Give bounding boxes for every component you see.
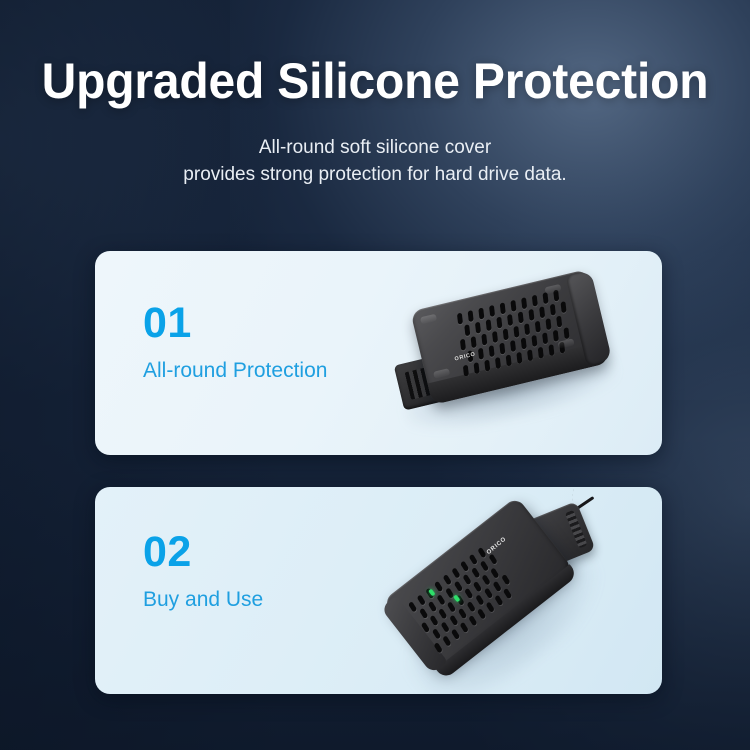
vent-slot	[442, 635, 451, 647]
feature-card-01[interactable]: 01 All-round Protection ORICO	[95, 251, 662, 455]
vent-slot	[449, 615, 458, 627]
vent-slot	[531, 335, 537, 347]
vent-slot	[556, 315, 562, 327]
vent-slot	[443, 574, 452, 586]
vent-slot	[510, 300, 516, 312]
vent-slot	[503, 328, 509, 340]
vent-slot	[527, 349, 533, 361]
vent-slot	[545, 318, 551, 330]
vent-slot	[484, 588, 493, 600]
subtitle-line-2: provides strong protection for hard driv…	[0, 161, 750, 188]
feature-number: 02	[143, 529, 263, 575]
vent-slot	[494, 595, 503, 607]
vent-slot	[500, 302, 506, 314]
vent-slot	[516, 352, 522, 364]
vent-slot	[549, 304, 555, 316]
vent-slot	[427, 601, 436, 613]
vent-slot	[538, 347, 544, 359]
vent-slot	[463, 365, 469, 377]
vent-slot	[432, 628, 441, 640]
vent-slot	[478, 307, 484, 319]
feature-title: Buy and Use	[143, 587, 263, 613]
feature-card-02-text: 02 Buy and Use	[143, 529, 263, 613]
vent-slot	[488, 345, 494, 357]
vent-slot	[471, 567, 480, 579]
vent-slot	[436, 594, 445, 606]
vent-slot	[479, 561, 488, 573]
vent-slot	[524, 323, 530, 335]
feature-number: 01	[143, 300, 327, 346]
vent-slot	[517, 311, 523, 323]
vent-slot	[475, 595, 484, 607]
vent-slot	[501, 574, 510, 586]
vent-slot	[468, 310, 474, 322]
vent-slot	[451, 567, 460, 579]
vent-slot	[464, 324, 470, 336]
vent-slot	[539, 306, 545, 318]
vent-slot	[457, 313, 463, 325]
vent-slot	[466, 601, 475, 613]
vent-slot	[474, 362, 480, 374]
vent-slot	[477, 547, 486, 559]
feature-card-02[interactable]: 02 Buy and Use ORICO ORICO	[95, 487, 662, 694]
vent-slot	[429, 615, 438, 627]
vent-slot	[489, 305, 495, 317]
product-feature-banner: Upgraded Silicone Protection All-round s…	[0, 0, 750, 750]
vent-slot	[481, 574, 490, 586]
vent-slot	[471, 336, 477, 348]
vent-slot	[460, 339, 466, 351]
vent-slot	[477, 348, 483, 360]
vent-slot	[492, 581, 501, 593]
vent-slot	[458, 608, 467, 620]
vent-slot	[496, 317, 502, 329]
vent-slot	[503, 588, 512, 600]
vent-slot	[507, 314, 513, 326]
vent-slot	[438, 608, 447, 620]
vent-slot	[473, 581, 482, 593]
vent-slot	[499, 343, 505, 355]
vent-slot	[521, 297, 527, 309]
vent-slot	[417, 594, 426, 606]
vent-slot	[535, 321, 541, 333]
vent-slot	[486, 601, 495, 613]
vent-slot	[440, 622, 449, 634]
vent-slot	[560, 301, 566, 313]
vent-slot	[453, 581, 462, 593]
vent-slot	[434, 581, 443, 593]
vent-slot	[509, 340, 515, 352]
vent-slot	[513, 326, 519, 338]
subtitle-line-1: All-round soft silicone cover	[0, 134, 750, 161]
vent-slot	[528, 309, 534, 321]
vent-slot	[469, 554, 478, 566]
vent-slot	[419, 608, 428, 620]
page-title: Upgraded Silicone Protection	[15, 52, 735, 110]
feature-card-01-text: 01 All-round Protection	[143, 300, 327, 384]
vent-slot	[490, 567, 499, 579]
product-image-hdd-enclosure-with-adapter: ORICO ORICO	[385, 491, 662, 691]
vent-slot	[464, 588, 473, 600]
vent-slot	[542, 332, 548, 344]
vent-slot	[484, 360, 490, 372]
vent-slot	[462, 574, 471, 586]
vent-slot	[485, 319, 491, 331]
vent-slot	[451, 628, 460, 640]
vent-slot	[477, 608, 486, 620]
feature-title: All-round Protection	[143, 358, 327, 384]
vent-slot	[563, 327, 569, 339]
product-image-hdd-enclosure: ORICO	[395, 275, 625, 433]
vent-slot	[495, 357, 501, 369]
vent-slot	[492, 331, 498, 343]
vent-slot	[552, 330, 558, 342]
vent-slot	[520, 338, 526, 350]
vent-slot	[506, 354, 512, 366]
page-subtitle: All-round soft silicone cover provides s…	[0, 134, 750, 188]
vent-slot	[468, 615, 477, 627]
vent-slot	[474, 322, 480, 334]
vent-slot	[460, 622, 469, 634]
vent-slot	[447, 601, 456, 613]
vent-slot	[532, 295, 538, 307]
vent-slot	[481, 333, 487, 345]
vent-slot	[460, 560, 469, 572]
vent-slot	[548, 344, 554, 356]
